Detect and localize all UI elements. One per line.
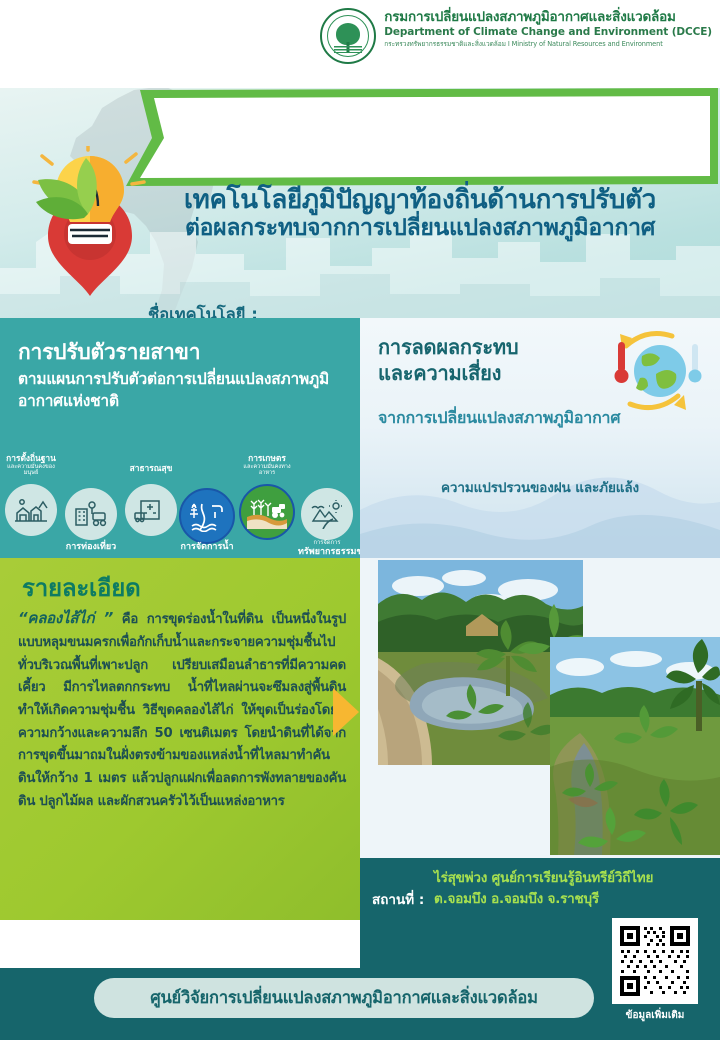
- title-line-1: เทคโนโลยีภูมิปัญญาท้องถิ่นด้านการปรับตัว: [140, 186, 700, 215]
- location-value: ไร่สุขพ่วง ศูนย์การเรียนรู้อินทรีย์วิถีไ…: [434, 868, 704, 910]
- hero-banner: เทคโนโลยีภูมิปัญญาท้องถิ่นด้านการปรับตัว…: [0, 88, 720, 318]
- adaptation-subheading: ตามแผนการปรับตัวต่อการเปลี่ยนแปลงสภาพภูม…: [18, 368, 348, 413]
- sector-public-health-label: สาธารณสุข: [122, 464, 180, 474]
- tech-name-label: ชื่อเทคโนโลยี :: [148, 302, 258, 318]
- sector-tourism[interactable]: การท่องเที่ยว: [62, 488, 120, 540]
- mitigation-heading-line1: การลดผลกระทบ: [378, 334, 593, 360]
- research-center-name: ศูนย์วิจัยการเปลี่ยนแปลงสภาพภูมิอากาศและ…: [150, 985, 538, 1011]
- lightbulb-leaf-pin-icon: [30, 146, 150, 296]
- hills-graphic: [360, 448, 720, 558]
- dcce-seal-icon: [320, 8, 376, 64]
- qr-code[interactable]: [612, 918, 698, 1004]
- details-lead: “คลองไส้ไก่ ”: [18, 609, 113, 627]
- details-heading: รายละเอียด: [22, 568, 141, 607]
- details-panel: รายละเอียด “คลองไส้ไก่ ” คือ การขุดร่องน…: [0, 558, 360, 920]
- sector-natural-resources-label: การจัดการ ทรัพยากรธรรมชาติ: [298, 540, 356, 557]
- sector-tourism-label: การท่องเที่ยว: [62, 542, 120, 552]
- sector-public-health[interactable]: สาธารณสุข: [122, 484, 180, 536]
- poster-title: เทคโนโลยีภูมิปัญญาท้องถิ่นด้านการปรับตัว…: [140, 186, 700, 242]
- sector-water-label: การจัดการน้ำ: [178, 542, 236, 552]
- poster-root: กรมการเปลี่ยนแปลงสภาพภูมิอากาศและสิ่งแวด…: [0, 0, 720, 1040]
- details-body-text: คือ การขุดร่องน้ำในที่ดิน เป็นหนึ่งในรูป…: [18, 612, 346, 809]
- settlement-icon: [5, 484, 57, 536]
- qr-caption: ข้อมูลเพิ่มเติม: [604, 1008, 706, 1023]
- sector-settlement[interactable]: การตั้งถิ่นฐาน และความมั่นคงของมนุษย์: [2, 484, 60, 536]
- location-line-2: ต.จอมบึง อ.จอมบึง จ.ราชบุรี: [434, 889, 704, 910]
- ministry-line: กระทรวงทรัพยากรธรรมชาติและสิ่งแวดล้อม I …: [384, 40, 712, 49]
- details-body: “คลองไส้ไก่ ” คือ การขุดร่องน้ำในที่ดิน …: [18, 606, 346, 813]
- sector-water-management[interactable]: การจัดการน้ำ: [178, 488, 236, 544]
- sector-icon-row: การตั้งถิ่นฐาน และความมั่นคงของมนุษย์: [0, 452, 360, 558]
- agriculture-icon: [239, 484, 295, 540]
- mitigation-heading: การลดผลกระทบ และความเสี่ยง: [378, 334, 593, 386]
- water-management-icon: [179, 488, 235, 544]
- crop-field-photo: [550, 637, 720, 855]
- sector-agriculture[interactable]: การเกษตร และความมั่นคงทางอาหาร: [238, 484, 296, 540]
- mitigation-heading-line2: และความเสี่ยง: [378, 360, 593, 386]
- thermometer-cold: [689, 344, 702, 383]
- sector-agriculture-label: การเกษตร และความมั่นคงทางอาหาร: [238, 454, 296, 477]
- org-name-en: Department of Climate Change and Environ…: [384, 26, 712, 40]
- location-label: สถานที่ :: [372, 888, 424, 910]
- adaptation-heading: การปรับตัวรายสาขา: [18, 336, 200, 369]
- research-center-pill: ศูนย์วิจัยการเปลี่ยนแปลงสภาพภูมิอากาศและ…: [94, 978, 594, 1018]
- dcce-logo: กรมการเปลี่ยนแปลงสภาพภูมิอากาศและสิ่งแวด…: [320, 8, 712, 64]
- sector-settlement-label: การตั้งถิ่นฐาน และความมั่นคงของมนุษย์: [2, 454, 60, 477]
- tourism-icon: [65, 488, 117, 540]
- mitigation-risk-panel: การลดผลกระทบ และความเสี่ยง จากการเปลี่ยน…: [360, 318, 720, 558]
- qr-code-icon: [617, 923, 693, 999]
- title-line-2: ต่อผลกระทบจากการเปลี่ยนแปลงสภาพภูมิอากาศ: [140, 215, 700, 242]
- hospital-icon: [125, 484, 177, 536]
- title-flag-graphic: [118, 88, 718, 186]
- org-name-th: กรมการเปลี่ยนแปลงสภาพภูมิอากาศและสิ่งแวด…: [384, 9, 712, 26]
- sector-natural-resources[interactable]: การจัดการ ทรัพยากรธรรมชาติ: [298, 488, 356, 540]
- risk-text: ความแปรปรวนของฝน และภัยแล้ง: [360, 476, 720, 498]
- globe-thermometer-icon: [598, 326, 708, 418]
- natural-resources-icon: [301, 488, 353, 540]
- top-header: กรมการเปลี่ยนแปลงสภาพภูมิอากาศและสิ่งแวด…: [0, 0, 720, 88]
- yellow-arrow-icon: [333, 688, 359, 736]
- location-line-1: ไร่สุขพ่วง ศูนย์การเรียนรู้อินทรีย์วิถีไ…: [434, 868, 704, 889]
